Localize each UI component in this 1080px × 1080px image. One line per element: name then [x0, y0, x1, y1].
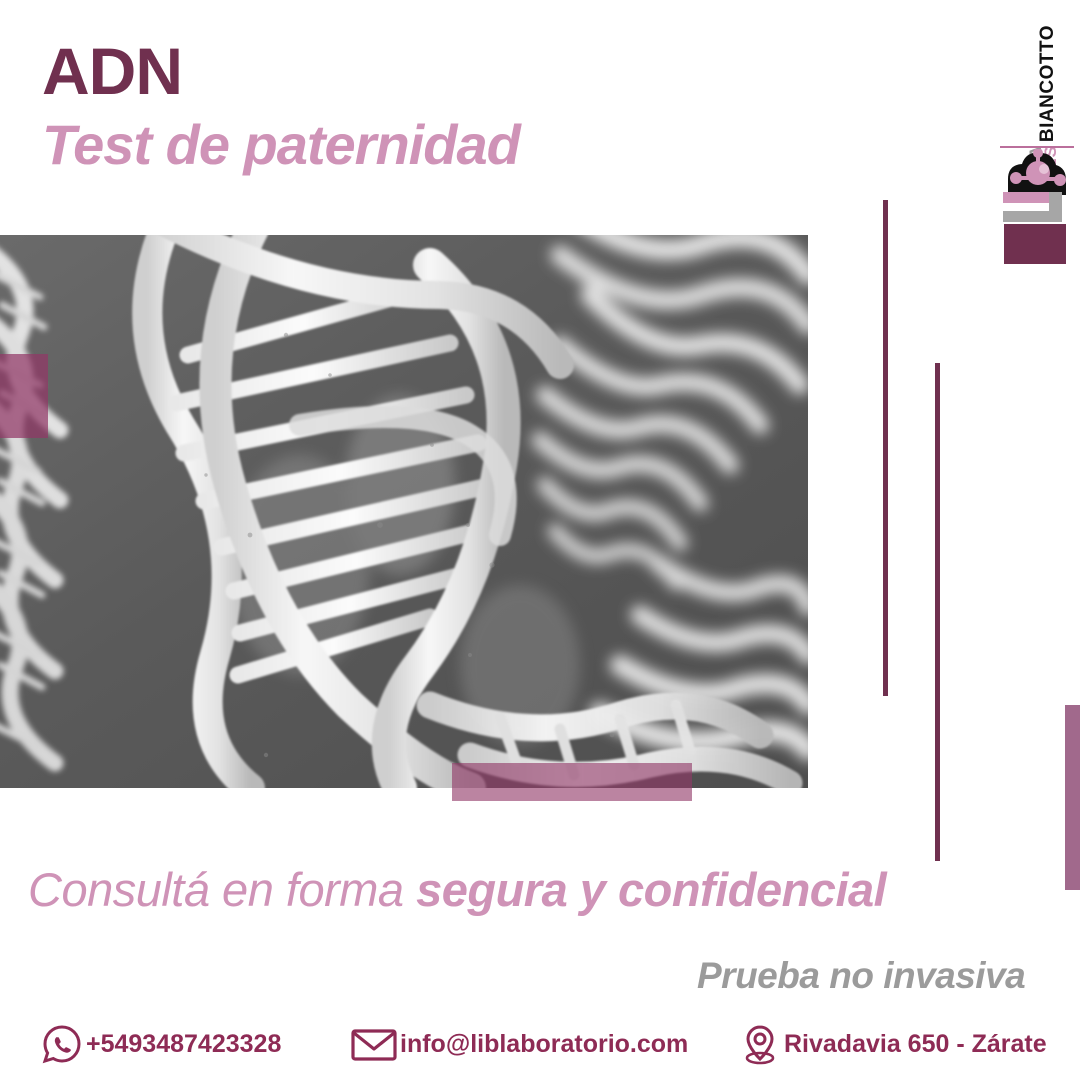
vertical-rule-inner	[935, 363, 940, 861]
whatsapp-icon	[40, 1022, 84, 1066]
map-pin-icon	[738, 1022, 782, 1066]
page-subtitle: Test de paternidad	[42, 116, 520, 175]
tagline-secondary: Prueba no invasiva	[697, 955, 1025, 997]
contact-address-value: Rivadavia 650 - Zárate	[784, 1030, 1047, 1059]
logo-bar-pink	[1003, 192, 1049, 203]
headline-block: ADN Test de paternidad	[42, 38, 520, 175]
logo-lshape-mark	[1003, 192, 1065, 222]
molecule-icon	[1004, 149, 1070, 195]
contact-phone[interactable]: +5493487423328	[40, 1022, 281, 1066]
envelope-icon	[350, 1024, 398, 1064]
logo-divider	[1000, 146, 1074, 148]
page-title: ADN	[42, 38, 520, 104]
contact-bar: +5493487423328 info@liblaboratorio.com R…	[0, 1008, 1080, 1080]
poster-canvas: ADN Test de paternidad LEA INES BIANCOTT…	[0, 0, 1080, 1080]
logo-bar-gray-horizontal	[1003, 211, 1062, 222]
contact-email[interactable]: info@liblaboratorio.com	[350, 1024, 688, 1064]
logo-solid-block	[1004, 224, 1066, 264]
brand-name-line3: BIANCOTTO	[1037, 25, 1059, 142]
contact-phone-value: +5493487423328	[86, 1030, 281, 1059]
tagline-primary-bold: segura y confidencial	[416, 863, 886, 916]
dna-double-helix-photo	[0, 235, 808, 788]
vertical-rule-outer	[883, 200, 888, 696]
right-edge-pink-block	[1065, 705, 1080, 890]
tagline-primary: Consultá en forma segura y confidencial	[28, 862, 886, 917]
pink-accent-rectangle-left	[0, 354, 48, 438]
pink-accent-bar-bottom	[452, 763, 692, 801]
tagline-primary-light: Consultá en forma	[28, 863, 416, 916]
contact-address[interactable]: Rivadavia 650 - Zárate	[738, 1022, 1047, 1066]
contact-email-value: info@liblaboratorio.com	[400, 1030, 688, 1059]
